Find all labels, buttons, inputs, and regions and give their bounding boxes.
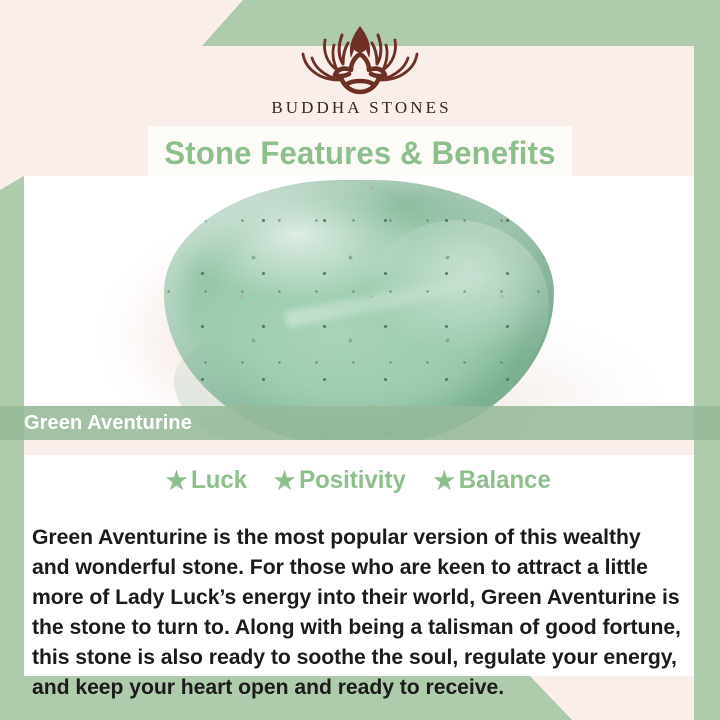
star-icon: ★	[166, 469, 188, 494]
product-name: Green Aventurine	[24, 406, 192, 440]
description-text: Green Aventurine is the most popular ver…	[32, 522, 682, 702]
benefit-label: Luck	[191, 466, 247, 494]
benefits-row: ★Luck ★Positivity ★Balance	[24, 466, 694, 495]
pink-divider-strip	[24, 440, 694, 455]
star-icon: ★	[274, 469, 296, 494]
benefit-label: Positivity	[300, 466, 407, 494]
green-left-rail	[0, 176, 24, 720]
star-icon: ★	[434, 469, 456, 494]
benefit-item-luck: ★Luck	[166, 466, 247, 495]
stone-speckles	[164, 180, 554, 440]
stone-features-infographic: BUDDHA STONES Stone Features & Benefits …	[0, 0, 720, 720]
benefit-item-balance: ★Balance	[434, 466, 551, 495]
page-title: Stone Features & Benefits	[154, 126, 565, 180]
benefit-label: Balance	[459, 466, 551, 494]
header-area: BUDDHA STONES Stone Features & Benefits	[0, 0, 720, 180]
aventurine-stone	[164, 180, 554, 440]
brand-logo: BUDDHA STONES	[0, 18, 720, 118]
benefit-item-positivity: ★Positivity	[274, 466, 406, 495]
product-image	[24, 176, 694, 440]
lotus-meditation-figure-icon	[285, 18, 435, 96]
brand-name: BUDDHA STONES	[0, 98, 720, 118]
